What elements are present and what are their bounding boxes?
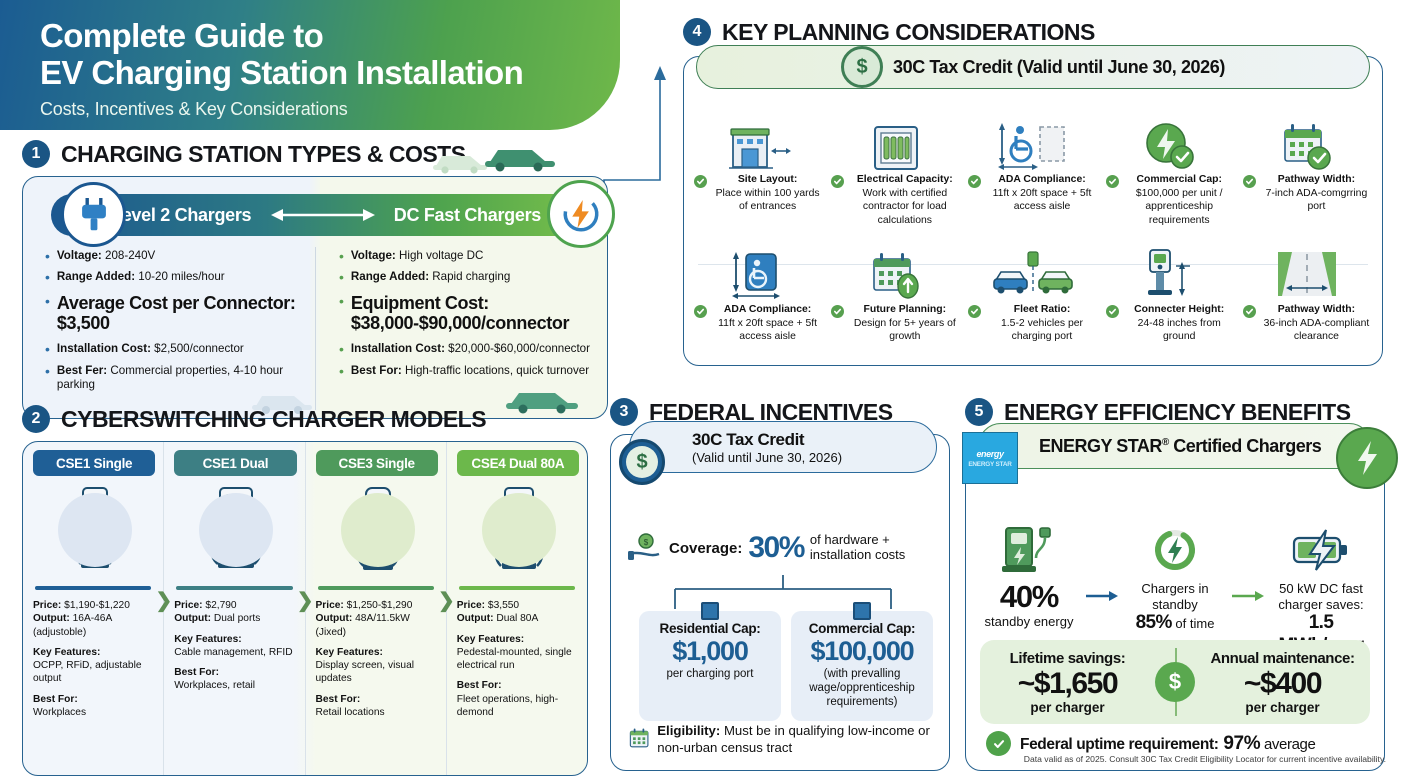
planning-items-row-1 <box>690 113 1376 177</box>
dollar-coin-icon: $ <box>841 46 883 88</box>
charger-model-grid: CSE1 Single ❯ Price: $1,190-$1,220 <box>23 442 587 775</box>
accessible-sign-icon <box>694 242 823 300</box>
lifetime-savings-value: ~$1,650 <box>980 667 1155 700</box>
item-text: 24-48 inches from ground <box>1138 318 1221 343</box>
model-tab[interactable]: CSE1 Dual <box>174 450 296 476</box>
calendar-arrow-up-icon <box>831 242 960 300</box>
plug-icon <box>61 182 126 247</box>
charger-illustration <box>457 476 581 584</box>
bullet-dot: • <box>339 342 344 357</box>
item-text: Work with certified contractor for load … <box>862 188 947 226</box>
section5-title: ENERGY EFFICIENCY BENEFITS <box>1004 399 1351 426</box>
spec-row: •Installation Cost: $20,000-$60,000/conn… <box>339 342 593 357</box>
level2-label: Level 2 Chargers <box>111 205 251 226</box>
calendar-icon <box>629 723 649 753</box>
electrical-panel-icon <box>831 113 960 171</box>
tax-credit-banner: $ 30C Tax Credit (Valid until June 30, 2… <box>696 45 1370 89</box>
energy-star-title: ENERGY STAR® Certified Chargers <box>1039 436 1321 457</box>
item-text: 7-inch ADA-comgrring port <box>1266 188 1368 213</box>
check-circle-icon <box>986 731 1011 756</box>
tax-credit-banner-title: 30C Tax Credit (Valid until June 30, 202… <box>893 57 1225 78</box>
eligibility-label: Eligibility: <box>657 723 720 738</box>
spec-label: Range Added: <box>351 270 429 283</box>
features-label: Key Features: <box>457 634 524 645</box>
uptime-suffix: average <box>1260 736 1315 753</box>
model-specs: Price: $1,250-$1,290 Output: 48A/11.5kW … <box>316 599 440 719</box>
standby-time-value: 85% <box>1136 612 1172 633</box>
charger-height-icon <box>1106 242 1235 300</box>
energy-star-logo-icon: energy ENERGY STAR <box>962 432 1018 484</box>
cap-subtext: per charging port <box>645 667 775 681</box>
spec-label: Installation Cost: <box>351 342 445 355</box>
bestfor-label: Best For: <box>33 694 78 705</box>
page-header: Complete Guide to EV Charging Station In… <box>0 0 620 130</box>
section5-panel: ENERGY STAR® Certified Chargers energy E… <box>965 434 1385 771</box>
planning-labels-row-2: ADA Compliance:11ft x 20ft space + 5ft a… <box>690 303 1376 344</box>
check-circle-icon <box>1243 305 1256 318</box>
bullet-dot: • <box>45 342 50 357</box>
output-label: Output: <box>316 613 353 624</box>
chevron-right-icon: ❯ <box>297 588 314 613</box>
model-tab[interactable]: CSE3 Single <box>316 450 438 476</box>
check-circle-icon <box>694 175 707 188</box>
planning-item-text: Electrical Capacity:Work with certified … <box>827 173 964 227</box>
model-rule <box>176 586 292 590</box>
charger-model-card[interactable]: CSE3 Single ❯ Price: $ <box>305 442 446 775</box>
illustration-backdrop <box>199 493 273 567</box>
planning-item <box>1102 113 1239 177</box>
cap-value: $1,000 <box>645 636 775 667</box>
section4-panel: $ 30C Tax Credit (Valid until June 30, 2… <box>683 56 1383 366</box>
spec-label: Equipment Cost: $38,000-$90,000/connecto… <box>351 294 593 334</box>
bestfor-value: Workplaces, retail <box>174 680 255 691</box>
savings-box: Lifetime savings: ~$1,650 per charger $ … <box>980 640 1370 724</box>
spec-label: Average Cost per Connector: $3,500 <box>57 294 301 334</box>
output-value: Dual ports <box>211 613 260 624</box>
energy-star-banner: ENERGY STAR® Certified Chargers <box>978 423 1372 469</box>
annual-maintenance: Annual maintenance: ~$400 per charger <box>1195 650 1370 715</box>
charger-pump-icon <box>976 519 1082 581</box>
annual-maintenance-sub: per charger <box>1195 700 1370 715</box>
dcfast-spec-list: •Voltage: High voltage DC •Range Added: … <box>315 249 607 398</box>
double-arrow-icon <box>269 207 377 223</box>
output-value: Dual 80A <box>494 613 539 624</box>
spec-row: •Voltage: High voltage DC <box>339 249 593 264</box>
output-label: Output: <box>457 613 494 624</box>
features-value: Pedestal-mounted, single electrical run <box>457 647 572 671</box>
coverage-percent: 30% <box>748 531 804 565</box>
section2-number: 2 <box>22 405 50 433</box>
accessible-dimensions-icon <box>968 113 1097 171</box>
two-cars-icon <box>968 242 1097 300</box>
price-value: $1,250-$1,290 <box>344 600 413 611</box>
check-circle-icon <box>831 305 844 318</box>
output-label: Output: <box>33 613 70 624</box>
commercial-cap-card: Commercial Cap: $100,000 (with prevallin… <box>791 611 933 721</box>
check-circle-icon <box>1106 305 1119 318</box>
svg-text:$: $ <box>644 538 649 547</box>
features-label: Key Features: <box>174 634 241 645</box>
planning-item <box>827 242 964 306</box>
spec-value: High voltage DC <box>396 249 484 262</box>
hand-coin-icon: $ <box>627 533 663 563</box>
section-charger-models: 2 CYBERSWITCHING CHARGER MODELS CSE1 Sin… <box>22 405 588 776</box>
battery-bolt-icon <box>1268 519 1374 581</box>
bullet-dot: • <box>339 249 344 264</box>
spec-label: Range Added: <box>57 270 135 283</box>
model-tab[interactable]: CSE1 Single <box>33 450 155 476</box>
section4-header: 4 KEY PLANNING CONSIDERATIONS <box>683 18 1383 46</box>
standby-energy-caption: standby energy <box>976 614 1082 630</box>
dollar-coin-icon: $ <box>619 439 665 485</box>
cap-subtext: (with prevalling wage/opprenticeship req… <box>797 667 927 709</box>
lifetime-savings-title: Lifetime savings: <box>980 650 1155 667</box>
cap-title: Residential Cap: <box>645 621 775 636</box>
title-line-2: EV Charging Station Installation <box>40 54 523 91</box>
bullet-dot: • <box>339 364 344 379</box>
model-rule <box>459 586 575 590</box>
planning-item-text: Fleet Ratio:1.5-2 vehicles per charging … <box>964 303 1101 344</box>
spec-row: •Voltage: 208-240V <box>45 249 301 264</box>
uptime-row: Federal uptime requirement: 97% average <box>986 731 1370 756</box>
bestfor-label: Best For: <box>316 694 361 705</box>
cap-title: Commercial Cap: <box>797 621 927 636</box>
item-text: $100,000 per unit / apprenticeship requi… <box>1136 188 1223 226</box>
item-label: Connecter Height: <box>1134 304 1224 315</box>
flow-connector <box>600 60 696 300</box>
features-value: Display screen, visual updates <box>316 660 415 684</box>
output-label: Output: <box>174 613 211 624</box>
item-label: ADA Compliance: <box>724 304 811 315</box>
price-label: Price: <box>33 600 61 611</box>
illustration-backdrop <box>482 493 556 567</box>
planning-labels-row-1: Site Layout:Place within 100 yards of en… <box>690 173 1376 227</box>
section2-title: CYBERSWITCHING CHARGER MODELS <box>61 406 486 433</box>
spec-row: •Range Added: 10-20 miles/hour <box>45 270 301 285</box>
page-subtitle: Costs, Incentives & Key Considerations <box>40 99 620 120</box>
spec-value: $20,000-$60,000/connector <box>445 342 590 355</box>
bestfor-label: Best For: <box>457 680 502 691</box>
check-circle-icon <box>1106 175 1119 188</box>
features-value: Cable management, RFID <box>174 647 292 658</box>
model-rule <box>318 586 434 590</box>
section-energy-efficiency: 5 ENERGY EFFICIENCY BENEFITS ENERGY STAR… <box>965 398 1385 771</box>
bestfor-label: Best For: <box>174 667 219 678</box>
planning-items-row-2 <box>690 242 1376 306</box>
tax-credit-pill: 30C Tax Credit (Valid until June 30, 202… <box>629 421 937 473</box>
spec-value: High-traffic locations, quick turnover <box>402 364 589 377</box>
lightning-circle-icon <box>1336 427 1398 489</box>
check-circle-icon <box>694 305 707 318</box>
item-label: Future Planning: <box>864 304 947 315</box>
planning-item <box>1102 242 1239 306</box>
illustration-backdrop <box>341 493 415 567</box>
item-text: 36-inch ADA-compliant clearance <box>1264 318 1370 343</box>
section2-panel: CSE1 Single ❯ Price: $1,190-$1,220 <box>22 441 588 776</box>
section4-title: KEY PLANNING CONSIDERATIONS <box>722 19 1095 46</box>
cap-value: $100,000 <box>797 636 927 667</box>
cap-row: Residential Cap: $1,000 per charging por… <box>639 611 933 721</box>
planning-item-text: ADA Compliance:11ft x 20ft space + 5ft a… <box>964 173 1101 227</box>
section-federal-incentives: 3 FEDERAL INCENTIVES 30C Tax Credit (Val… <box>610 398 950 771</box>
spec-label: Voltage: <box>57 249 102 262</box>
eligibility-row: Eligibility: Must be in qualifying low-i… <box>629 723 935 756</box>
spec-label: Voltage: <box>351 249 396 262</box>
bullet-dot: • <box>339 270 344 285</box>
bullet-dot: • <box>45 294 50 334</box>
spec-label: Installation Cost: <box>57 342 151 355</box>
coverage-note: of hardware + installation costs <box>810 533 905 563</box>
annual-maintenance-value: ~$400 <box>1195 667 1370 700</box>
check-circle-icon <box>831 175 844 188</box>
section-charging-station-types: 1 CHARGING STATION TYPES & COSTS Level 2… <box>22 140 608 419</box>
building-width-icon <box>694 113 823 171</box>
dollar-coin-icon: $ <box>1155 662 1195 702</box>
spec-value: $2,500/connector <box>151 342 244 355</box>
item-label: Pathway Width: <box>1278 174 1355 185</box>
price-value: $3,550 <box>485 600 519 611</box>
planning-item-text: Future Planning:Design for 5+ years of g… <box>827 303 964 344</box>
illustration-backdrop <box>58 493 132 567</box>
price-value: $1,190-$1,220 <box>61 600 130 611</box>
uptime-label: Federal uptime requirement: <box>1020 736 1219 753</box>
roadway-width-icon <box>1243 242 1372 300</box>
chevron-right-icon: ❯ <box>155 588 172 613</box>
check-circle-icon <box>1243 175 1256 188</box>
residential-cap-card: Residential Cap: $1,000 per charging por… <box>639 611 781 721</box>
lifetime-savings-sub: per charger <box>980 700 1155 715</box>
section1-number: 1 <box>22 140 50 168</box>
planning-item <box>1239 242 1376 306</box>
node-marker <box>701 602 719 620</box>
model-specs: Price: $3,550 Output: Dual 80A Key Featu… <box>457 599 581 719</box>
planning-item-text: Pathway Width:7-inch ADA-comgrring port <box>1239 173 1376 227</box>
branch-connector <box>651 575 915 609</box>
spec-row-highlight: •Equipment Cost: $38,000-$90,000/connect… <box>339 294 593 334</box>
spec-row: •Installation Cost: $2,500/connector <box>45 342 301 357</box>
price-label: Price: <box>457 600 485 611</box>
charger-model-card[interactable]: CSE1 Dual ❯ <box>163 442 304 775</box>
node-marker <box>853 602 871 620</box>
green-bolt-check-icon <box>1106 113 1235 171</box>
spec-value: Rapid charging <box>429 270 510 283</box>
section1-columns: •Voltage: 208-240V •Range Added: 10-20 m… <box>23 249 607 398</box>
section5-header: 5 ENERGY EFFICIENCY BENEFITS <box>965 398 1385 426</box>
item-text: 11ft x 20ft space + 5ft access aisle <box>718 318 817 343</box>
car-decoration-icon <box>480 140 570 172</box>
flow-step-standby-energy: 40% standby energy <box>976 519 1082 629</box>
planning-item <box>964 113 1101 177</box>
spec-row-highlight: •Average Cost per Connector: $3,500 <box>45 294 301 334</box>
standby-energy-value: 40% <box>976 581 1082 614</box>
features-label: Key Features: <box>33 647 100 658</box>
lightning-recycle-icon <box>547 180 615 248</box>
item-label: Commercial Cap: <box>1136 174 1221 185</box>
item-text: 11ft x 20ft space + 5ft access aisle <box>993 188 1092 213</box>
spec-label: Best Fer: <box>57 364 107 377</box>
bullet-dot: • <box>45 270 50 285</box>
section-key-planning: 4 KEY PLANNING CONSIDERATIONS $ 30C Tax … <box>683 18 1383 366</box>
item-text: Place within 100 yards of entrances <box>716 188 820 213</box>
section4-number: 4 <box>683 18 711 46</box>
level2-spec-list: •Voltage: 208-240V •Range Added: 10-20 m… <box>23 249 315 398</box>
spec-row: •Range Added: Rapid charging <box>339 270 593 285</box>
bullet-dot: • <box>45 364 50 392</box>
planning-item <box>827 113 964 177</box>
coverage-row: $ Coverage: 30% of hardware + installati… <box>627 531 937 565</box>
section3-panel: 30C Tax Credit (Valid until June 30, 202… <box>610 434 950 771</box>
item-label: Fleet Ratio: <box>1014 304 1071 315</box>
section1-title: CHARGING STATION TYPES & COSTS <box>61 141 466 168</box>
lifetime-savings: Lifetime savings: ~$1,650 per charger <box>980 650 1155 715</box>
planning-item-text: ADA Compliance:11ft x 20ft space + 5ft a… <box>690 303 827 344</box>
item-label: Electrical Capacity: <box>857 174 953 185</box>
features-value: OCPP, RFiD, adjustable output <box>33 660 142 684</box>
section3-number: 3 <box>610 398 638 426</box>
spec-label: Best For: <box>351 364 402 377</box>
price-label: Price: <box>174 600 202 611</box>
price-label: Price: <box>316 600 344 611</box>
planning-item <box>1239 113 1376 177</box>
charger-illustration <box>316 476 440 584</box>
model-specs: Price: $2,790 Output: Dual ports Key Fea… <box>174 599 298 693</box>
spec-value: 208-240V <box>102 249 156 262</box>
bullet-dot: • <box>339 294 344 334</box>
arrow-right-icon <box>1228 519 1268 603</box>
planning-item-text: Pathway Width:36-inch ADA-compliant clea… <box>1239 303 1376 344</box>
bestfor-value: Retail locations <box>316 707 385 718</box>
flow-step-savings: 50 kW DC fast charger saves: 1.5 MWh/yea… <box>1268 519 1374 658</box>
section5-number: 5 <box>965 398 993 426</box>
model-specs: Price: $1,190-$1,220 Output: 16A-46A (ad… <box>33 599 157 719</box>
spec-row: •Best For: High-traffic locations, quick… <box>339 364 593 379</box>
tax-credit-title: 30C Tax Credit <box>692 430 842 450</box>
chevron-right-icon: ❯ <box>438 588 455 613</box>
bestfor-value: Workplaces <box>33 707 86 718</box>
planning-item <box>690 242 827 306</box>
item-text: 1.5-2 vehicles per charging port <box>1001 318 1083 343</box>
price-value: $2,790 <box>203 600 237 611</box>
uptime-value: 97% <box>1219 733 1261 754</box>
bullet-dot: • <box>45 249 50 264</box>
planning-item-text: Commercial Cap:$100,000 per unit / appre… <box>1102 173 1239 227</box>
calendar-check-icon <box>1243 113 1372 171</box>
item-label: ADA Compliance: <box>998 174 1085 185</box>
charger-type-banner: Level 2 Chargers DC Fast Chargers <box>51 194 589 236</box>
standby-time-caption: Chargers in standby 85% of time <box>1122 581 1228 635</box>
title-line-1: Complete Guide to <box>40 17 323 54</box>
charger-illustration <box>33 476 157 584</box>
annual-maintenance-title: Annual maintenance: <box>1195 650 1370 667</box>
bolt-ring-icon <box>1122 519 1228 581</box>
dcfast-label: DC Fast Chargers <box>394 205 541 226</box>
item-label: Site Layout: <box>738 174 797 185</box>
efficiency-flow: 40% standby energy Chargers in standby <box>976 519 1374 658</box>
bestfor-value: Fleet operations, high-demond <box>457 694 558 718</box>
arrow-right-icon <box>1082 519 1122 603</box>
model-tab[interactable]: CSE4 Dual 80A <box>457 450 579 476</box>
spec-value: 10-20 miles/hour <box>135 270 225 283</box>
charger-model-card[interactable]: CSE4 Dual 80A Pri <box>446 442 587 775</box>
page-title: Complete Guide to EV Charging Station In… <box>40 18 620 92</box>
section1-panel: Level 2 Chargers DC Fast Chargers <box>22 176 608 419</box>
planning-item-text: Connecter Height:24-48 inches from groun… <box>1102 303 1239 344</box>
tax-credit-subtitle: (Valid until June 30, 2026) <box>692 450 842 465</box>
footnote: Data valid as of 2025. Consult 30C Tax C… <box>1024 754 1386 764</box>
features-label: Key Features: <box>316 647 383 658</box>
planning-item-text: Site Layout:Place within 100 yards of en… <box>690 173 827 227</box>
model-rule <box>35 586 151 590</box>
check-circle-icon <box>968 305 981 318</box>
flow-step-standby-time: Chargers in standby 85% of time <box>1122 519 1228 635</box>
planning-item <box>690 113 827 177</box>
check-circle-icon <box>968 175 981 188</box>
coverage-label: Coverage: <box>669 540 742 557</box>
item-text: Design for 5+ years of growth <box>854 318 956 343</box>
planning-item <box>964 242 1101 306</box>
charger-illustration <box>174 476 298 584</box>
charger-model-card[interactable]: CSE1 Single ❯ Price: $1,190-$1,220 <box>23 442 163 775</box>
item-label: Pathway Width: <box>1278 304 1355 315</box>
section2-header: 2 CYBERSWITCHING CHARGER MODELS <box>22 405 588 433</box>
